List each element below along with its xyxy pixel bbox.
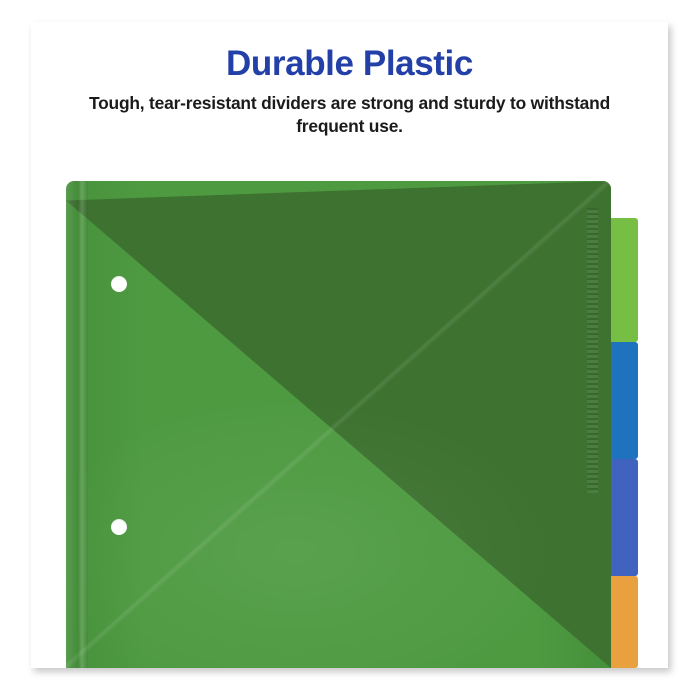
- product-image-stage: Durable Plastic Tough, tear-resistant di…: [0, 0, 700, 700]
- product-photo: [31, 22, 668, 668]
- punch-hole-bottom: [111, 519, 127, 535]
- punch-hole-top: [111, 276, 127, 292]
- product-card: Durable Plastic Tough, tear-resistant di…: [31, 22, 668, 668]
